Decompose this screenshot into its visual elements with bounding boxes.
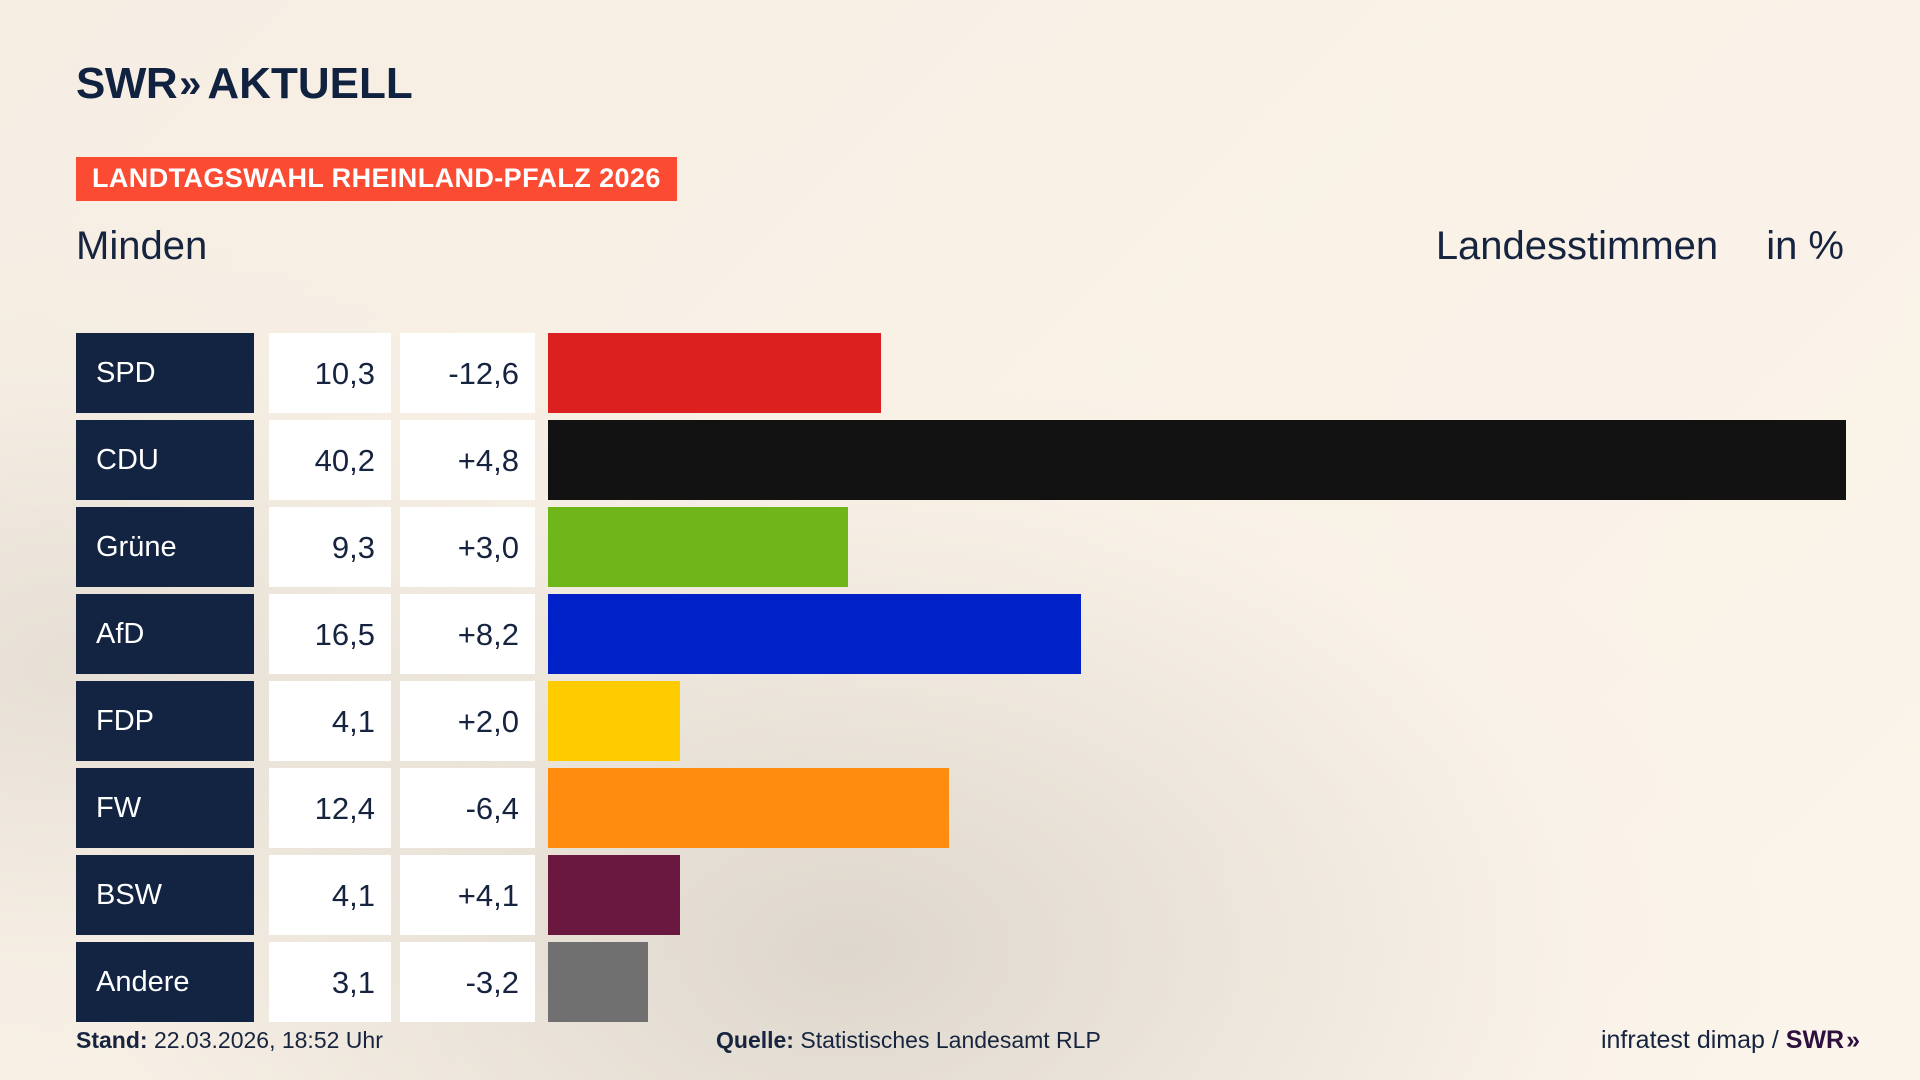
bar-track [548,333,1856,413]
chart-row: BSW4,1+4,1 [76,855,1856,941]
subheader: Minden Landesstimmen in % [76,222,1844,270]
vote-change-value: +4,1 [458,880,519,911]
party-name: AfD [96,620,144,649]
bar-track [548,942,1856,1022]
result-bar [548,855,680,935]
results-bar-chart: SPD10,3-12,6CDU40,2+4,8Grüne9,3+3,0AfD16… [76,333,1856,1029]
vote-change-value: +4,8 [458,445,519,476]
party-name: FDP [96,707,154,736]
result-bar [548,942,648,1022]
chart-row: FDP4,1+2,0 [76,681,1856,767]
infographic-canvas: SWR » AKTUELL LANDTAGSWAHL RHEINLAND-PFA… [0,0,1920,1080]
party-name: CDU [96,446,159,475]
vote-share-cell: 3,1 [269,942,391,1022]
aktuell-wordmark: AKTUELL [207,62,412,106]
swr-aktuell-logo: SWR » AKTUELL [76,58,413,110]
vote-share-value: 3,1 [332,967,375,998]
swr-credit-mark: SWR» [1786,1026,1856,1054]
swr-wordmark: SWR [76,62,177,106]
party-label-cell: FW [76,768,254,848]
party-label-cell: AfD [76,594,254,674]
vote-change-cell: +3,0 [400,507,535,587]
chart-row: CDU40,2+4,8 [76,420,1856,506]
party-label-cell: Andere [76,942,254,1022]
stand-value: 22.03.2026, 18:52 Uhr [154,1027,383,1053]
bar-track [548,594,1856,674]
vote-share-value: 9,3 [332,532,375,563]
region-title: Minden [76,222,207,270]
swr-credit-text: SWR [1786,1026,1844,1054]
vote-share-value: 4,1 [332,880,375,911]
stand-info: Stand: 22.03.2026, 18:52 Uhr [76,1027,716,1054]
stand-label: Stand: [76,1027,148,1053]
bar-track [548,768,1856,848]
credit-info: infratest dimap / SWR» [1601,1026,1856,1055]
vote-change-cell: +2,0 [400,681,535,761]
party-name: BSW [96,881,162,910]
party-name: SPD [96,359,156,388]
result-bar [548,594,1081,674]
vote-change-value: -6,4 [466,793,519,824]
chart-row: Grüne9,3+3,0 [76,507,1856,593]
result-bar [548,507,848,587]
vote-change-cell: -3,2 [400,942,535,1022]
vote-change-value: -3,2 [466,967,519,998]
chart-row: FW12,4-6,4 [76,768,1856,854]
chart-row: AfD16,5+8,2 [76,594,1856,680]
election-banner: LANDTAGSWAHL RHEINLAND-PFALZ 2026 [76,157,677,201]
vote-change-cell: -12,6 [400,333,535,413]
bar-track [548,420,1856,500]
vote-share-value: 10,3 [315,358,375,389]
subheader-right: Landesstimmen in % [1436,222,1844,270]
vote-change-cell: +8,2 [400,594,535,674]
result-bar [548,768,949,848]
vote-share-value: 40,2 [315,445,375,476]
result-bar [548,420,1846,500]
vote-change-value: -12,6 [448,358,519,389]
vote-share-cell: 4,1 [269,681,391,761]
unit-label: in % [1766,222,1844,270]
vote-share-cell: 4,1 [269,855,391,935]
vote-share-cell: 40,2 [269,420,391,500]
chevron-double-right-icon: » [1846,1026,1856,1054]
vote-change-cell: +4,8 [400,420,535,500]
chevron-double-right-icon: » [179,64,195,104]
vote-change-cell: +4,1 [400,855,535,935]
party-name: FW [96,794,141,823]
bar-track [548,681,1856,761]
result-bar [548,333,881,413]
party-label-cell: SPD [76,333,254,413]
chart-row: SPD10,3-12,6 [76,333,1856,419]
party-label-cell: BSW [76,855,254,935]
result-bar [548,681,680,761]
vote-type-label: Landesstimmen [1436,222,1718,270]
vote-share-value: 4,1 [332,706,375,737]
bar-track [548,507,1856,587]
vote-share-cell: 16,5 [269,594,391,674]
quelle-label: Quelle: [716,1027,794,1053]
source-info: Quelle: Statistisches Landesamt RLP [716,1027,1601,1054]
vote-share-value: 16,5 [315,619,375,650]
quelle-value: Statistisches Landesamt RLP [800,1027,1100,1053]
party-label-cell: FDP [76,681,254,761]
vote-change-value: +8,2 [458,619,519,650]
bar-track [548,855,1856,935]
credit-agency: infratest dimap / [1601,1026,1786,1054]
vote-share-cell: 9,3 [269,507,391,587]
party-name: Andere [96,968,190,997]
party-label-cell: Grüne [76,507,254,587]
vote-share-value: 12,4 [315,793,375,824]
chart-row: Andere3,1-3,2 [76,942,1856,1028]
party-label-cell: CDU [76,420,254,500]
vote-change-cell: -6,4 [400,768,535,848]
party-name: Grüne [96,533,177,562]
vote-change-value: +2,0 [458,706,519,737]
footer: Stand: 22.03.2026, 18:52 Uhr Quelle: Sta… [76,1026,1856,1055]
vote-share-cell: 12,4 [269,768,391,848]
vote-share-cell: 10,3 [269,333,391,413]
vote-change-value: +3,0 [458,532,519,563]
